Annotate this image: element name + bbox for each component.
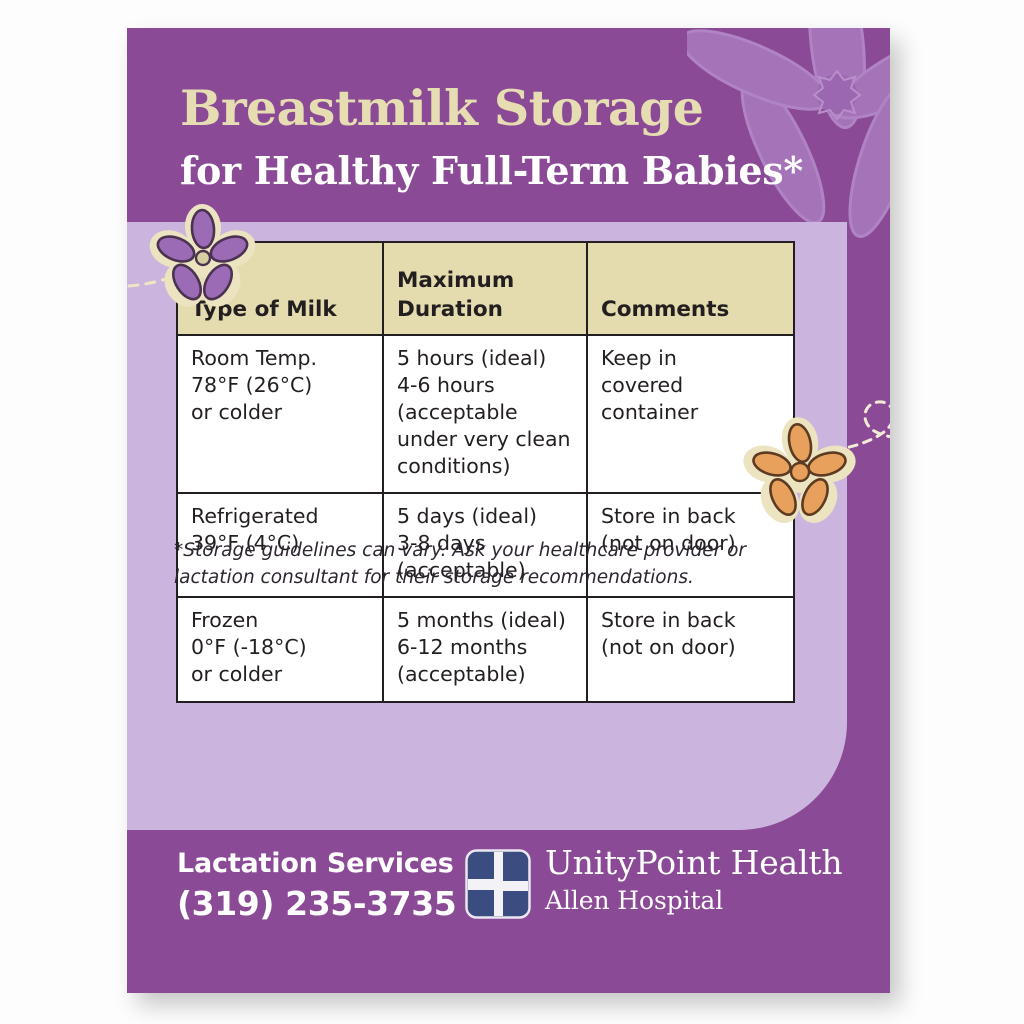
- footnote-text: *Storage guidelines can vary. Ask your h…: [174, 538, 774, 592]
- column-header-maximum-duration: Maximum Duration: [383, 242, 587, 335]
- poster-footer: Lactation Services (319) 235-3735: [127, 830, 890, 993]
- page-title: Breastmilk Storage: [180, 79, 703, 137]
- cell-comments-frozen: Store in back (not on door): [587, 597, 794, 701]
- storage-table-wrapper: Type of Milk Maximum Duration Comments R: [176, 241, 793, 703]
- brand-name: UnityPoint Health: [545, 846, 842, 881]
- table-row: Room Temp. 78°F (26°C) or colder 5 hours…: [177, 335, 794, 493]
- poster-canvas: Breastmilk Storage for Healthy Full-Term…: [0, 0, 1024, 1024]
- column-header-comments: Comments: [587, 242, 794, 335]
- unitypoint-cross-icon: [465, 849, 531, 919]
- cell-duration-room-temp: 5 hours (ideal) 4-6 hours (acceptable un…: [383, 335, 587, 493]
- lactation-contact: Lactation Services (319) 235-3735: [177, 848, 456, 923]
- poster-header: Breastmilk Storage for Healthy Full-Term…: [127, 28, 890, 224]
- table-row: Frozen 0°F (-18°C) or colder 5 months (i…: [177, 597, 794, 701]
- lactation-services-label: Lactation Services: [177, 848, 456, 879]
- breastmilk-storage-poster: Breastmilk Storage for Healthy Full-Term…: [127, 28, 890, 993]
- brand-hospital-name: Allen Hospital: [545, 886, 842, 915]
- column-header-type-of-milk: Type of Milk: [177, 242, 383, 335]
- storage-table: Type of Milk Maximum Duration Comments R: [176, 241, 795, 703]
- table-header-row: Type of Milk Maximum Duration Comments: [177, 242, 794, 335]
- lactation-phone-number: (319) 235-3735: [177, 884, 456, 923]
- brand-text-block: UnityPoint Health Allen Hospital: [545, 846, 842, 915]
- cell-type-frozen: Frozen 0°F (-18°C) or colder: [177, 597, 383, 701]
- unitypoint-health-logo: UnityPoint Health Allen Hospital: [465, 846, 842, 919]
- cell-duration-frozen: 5 months (ideal) 6-12 months (acceptable…: [383, 597, 587, 701]
- cell-type-room-temp: Room Temp. 78°F (26°C) or colder: [177, 335, 383, 493]
- cell-comments-room-temp: Keep in covered container: [587, 335, 794, 493]
- page-subtitle: for Healthy Full-Term Babies*: [180, 148, 803, 193]
